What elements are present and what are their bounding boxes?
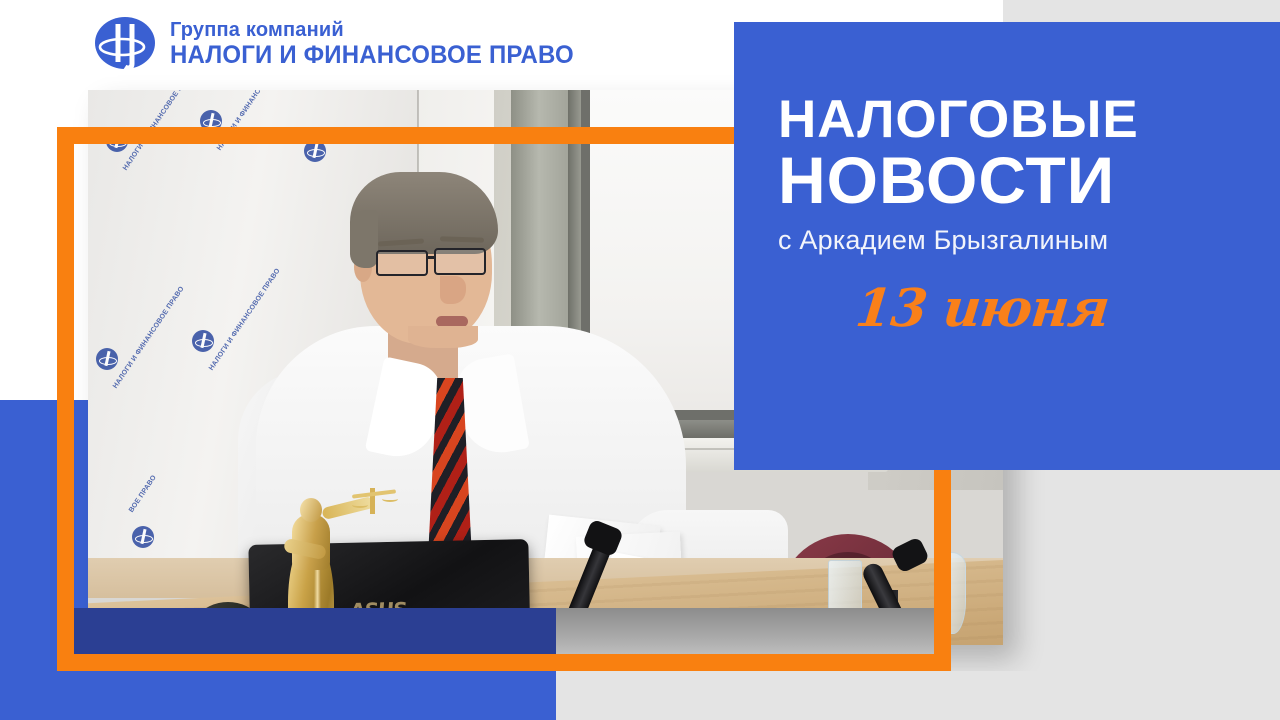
photo-justice-scales-pan <box>382 496 398 502</box>
photo-presenter-sideburn <box>350 210 378 268</box>
photo-presenter-glasses-left <box>376 250 428 276</box>
photo-presenter-chin <box>408 326 478 348</box>
photo-presenter-nose <box>440 276 466 304</box>
photo-presenter-glasses-right <box>434 248 486 275</box>
title-line-1: НАЛОГОВЫЕ <box>778 94 1248 146</box>
footer-blue-band <box>0 671 556 720</box>
title-subtitle: с Аркадием Брызгалиным <box>778 225 1248 256</box>
photo-presenter-glasses-bridge <box>426 256 436 259</box>
title-line-2: НОВОСТИ <box>778 148 1248 213</box>
title-date: 13 июня <box>853 278 1251 339</box>
logo-line-2: НАЛОГИ И ФИНАНСОВОЕ ПРАВО <box>170 43 574 68</box>
logo-line-1: Группа компаний <box>170 20 591 40</box>
photo-justice-statue-head <box>300 498 322 522</box>
orange-frame-left <box>57 127 74 671</box>
photo-justice-scales-pan <box>352 502 368 508</box>
banner-logo-icon <box>132 526 154 548</box>
photo-bottom-blue-overlay <box>74 608 556 654</box>
orange-frame-bottom <box>57 654 951 671</box>
title-text-block: НАЛОГОВЫЕ НОВОСТИ с Аркадием Брызгалиным… <box>778 94 1248 339</box>
nfp-swoosh-logo-icon <box>94 16 156 72</box>
banner-logo-icon <box>192 330 214 352</box>
banner-logo-icon <box>96 348 118 370</box>
company-logo[interactable]: Группа компаний НАЛОГИ И ФИНАНСОВОЕ ПРАВ… <box>94 16 591 72</box>
footer-gray-band <box>556 671 1280 720</box>
slide-canvas: Группа компаний НАЛОГИ И ФИНАНСОВОЕ ПРАВ… <box>0 0 1280 720</box>
photo-bottom-gray-overlay <box>556 608 951 654</box>
